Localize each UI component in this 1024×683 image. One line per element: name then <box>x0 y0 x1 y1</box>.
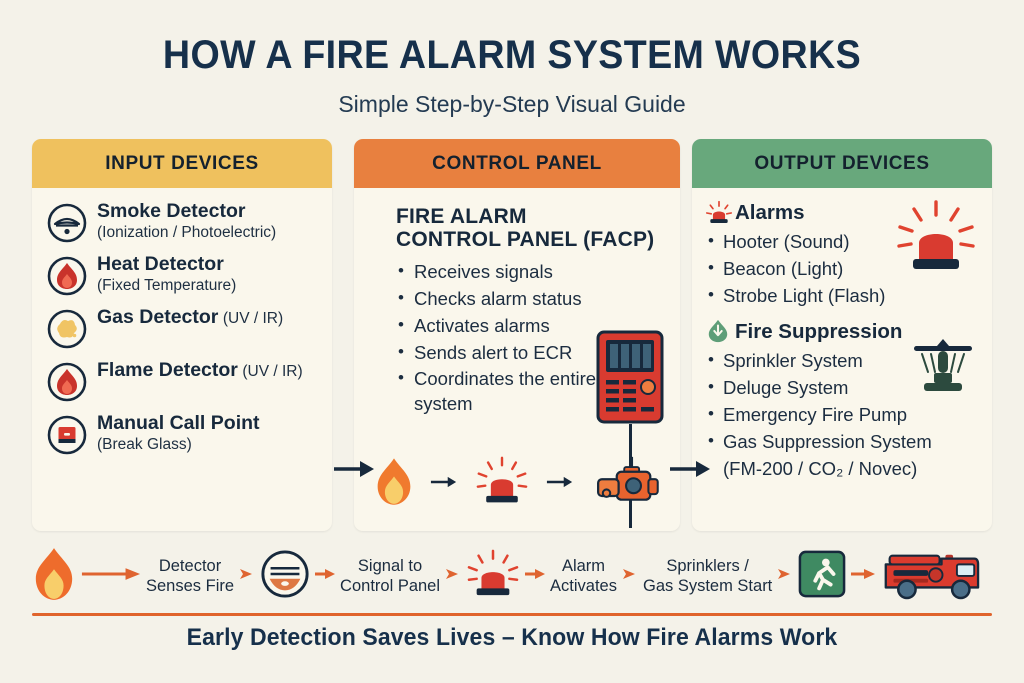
beacon-large-icon <box>894 198 978 278</box>
page-title: HOW A FIRE ALARM SYSTEM WORKS <box>31 32 994 78</box>
device-sub: (Break Glass) <box>97 436 192 453</box>
control-mini-flow <box>374 453 664 515</box>
output-group-label: Fire Suppression <box>735 320 902 344</box>
flow-arrow-short-3-icon <box>444 566 462 587</box>
device-text-gas-detector: Gas Detector (UV / IR) <box>97 306 283 329</box>
flow-label-alarm-activates: Alarm Activates <box>550 556 617 596</box>
panel-input-header: INPUT DEVICES <box>32 139 332 188</box>
fire-truck-icon <box>880 547 980 606</box>
facp-bullet: Receives signals <box>398 258 666 285</box>
output-list-item: Gas Suppression System (FM-200 / CO₂ / N… <box>706 428 978 482</box>
panel-control-panel: CONTROL PANEL FIRE ALARM CONTROL PANEL (… <box>354 139 680 531</box>
flow-label-line1: Alarm <box>562 557 605 575</box>
facp-title-line2: CONTROL PANEL (FACP) <box>396 227 666 252</box>
device-row-manual-call-point: Manual Call Point (Break Glass) <box>46 412 318 456</box>
device-row-flame-detector: Flame Detector (UV / IR) <box>46 359 318 403</box>
facp-unit-icon <box>596 330 664 424</box>
suppression-drop-icon <box>706 319 732 345</box>
three-column-area: INPUT DEVICES Smoke Detector (Ionization <box>0 139 1024 531</box>
flow-arrow-short-1-icon <box>238 566 256 587</box>
output-group-label: Alarms <box>735 201 805 225</box>
mini-flow-arrow-1-icon <box>430 475 458 494</box>
flow-label-signal-to-control-panel: Signal to Control Panel <box>340 556 440 596</box>
device-name: Manual Call Point <box>97 412 260 434</box>
page-subtitle: Simple Step-by-Step Visual Guide <box>0 90 1024 118</box>
gas-detector-icon <box>46 308 88 350</box>
device-text-flame-detector: Flame Detector (UV / IR) <box>97 359 303 382</box>
flame-icon <box>32 546 76 607</box>
flow-label-detector-senses-fire: Detector Senses Fire <box>146 556 234 596</box>
flow-arrow-short-6-icon <box>776 566 794 587</box>
panel-output-header: OUTPUT DEVICES <box>692 139 992 188</box>
device-name: Flame Detector <box>97 359 238 381</box>
flow-step-fire-truck <box>880 547 980 606</box>
device-sub: (Fixed Temperature) <box>97 277 236 294</box>
flow-label-line2: Control Panel <box>340 577 440 595</box>
flow-step-smoke-detector <box>260 549 310 604</box>
panel-input-devices: INPUT DEVICES Smoke Detector (Ionization <box>32 139 332 531</box>
output-list-item: Strobe Light (Flash) <box>706 282 978 309</box>
flow-label-line1: Detector <box>159 557 221 575</box>
beacon-icon <box>474 456 530 513</box>
footer-tagline: Early Detection Saves Lives – Know How F… <box>20 624 1003 652</box>
device-text-heat-detector: Heat Detector (Fixed Temperature) <box>97 253 318 295</box>
panel-output-body: Alarms Hooter (Sound) Beacon (Light) Str… <box>692 188 992 531</box>
device-text-manual-call-point: Manual Call Point (Break Glass) <box>97 412 318 454</box>
flow-step-beacon <box>466 549 520 604</box>
device-name: Gas Detector <box>97 306 218 328</box>
facp-bullet: Coordinates the entire system <box>398 366 614 416</box>
beacon-icon <box>466 549 520 604</box>
device-sub: (UV / IR) <box>223 310 283 327</box>
flow-arrow-short-4-icon <box>524 566 546 587</box>
bottom-flow-strip: Detector Senses Fire <box>32 541 992 611</box>
flow-step-flame <box>32 546 76 607</box>
flow-arrow-short-2-icon <box>314 566 336 587</box>
panel-output-devices: OUTPUT DEVICES <box>692 139 992 531</box>
facp-bullet: Checks alarm status <box>398 285 666 312</box>
device-sub: (Ionization / Photoelectric) <box>97 224 276 241</box>
device-text-smoke-detector: Smoke Detector (Ionization / Photoelectr… <box>97 200 318 242</box>
panel-control-body: FIRE ALARM CONTROL PANEL (FACP) Receives… <box>354 188 680 531</box>
smoke-detector-icon <box>46 202 88 244</box>
panel-control-header: CONTROL PANEL <box>354 139 680 188</box>
output-list-item-line1: Gas Suppression System <box>723 431 932 452</box>
device-row-gas-detector: Gas Detector (UV / IR) <box>46 306 318 350</box>
sprinkler-head-icon <box>906 338 980 404</box>
device-name: Smoke Detector <box>97 200 245 222</box>
device-sub: (UV / IR) <box>242 363 302 380</box>
flow-label-sprinklers-gas-system-start: Sprinklers / Gas System Start <box>643 556 772 596</box>
flow-label-line1: Signal to <box>358 557 422 575</box>
arrow-control-to-output-icon <box>668 457 712 481</box>
fire-pump-icon <box>590 455 664 514</box>
flow-label-line1: Sprinklers / <box>666 557 749 575</box>
beacon-icon <box>706 200 732 226</box>
manual-call-point-icon <box>46 414 88 456</box>
flow-arrow-long-icon <box>80 566 142 587</box>
footer-divider-rule <box>32 613 992 616</box>
device-row-smoke-detector: Smoke Detector (Ionization / Photoelectr… <box>46 200 318 244</box>
mini-flow-arrow-2-icon <box>546 475 574 494</box>
flow-step-exit-sign <box>798 550 846 603</box>
facp-title-line1: FIRE ALARM <box>396 204 666 229</box>
flow-label-line2: Senses Fire <box>146 577 234 595</box>
flame-detector-icon <box>46 361 88 403</box>
device-name: Heat Detector <box>97 253 224 275</box>
arrow-input-to-control-icon <box>332 457 376 481</box>
flow-label-line2: Activates <box>550 577 617 595</box>
output-list-item-line2: (FM-200 / CO₂ / Novec) <box>723 455 978 482</box>
panel-input-body: Smoke Detector (Ionization / Photoelectr… <box>32 188 332 531</box>
infographic-page: HOW A FIRE ALARM SYSTEM WORKS Simple Ste… <box>0 0 1024 683</box>
flow-label-line2: Gas System Start <box>643 577 772 595</box>
exit-sign-icon <box>798 550 846 603</box>
heat-detector-icon <box>46 255 88 297</box>
smoke-detector-icon <box>260 549 310 604</box>
flow-arrow-short-7-icon <box>850 566 876 587</box>
flame-icon <box>374 456 414 513</box>
device-row-heat-detector: Heat Detector (Fixed Temperature) <box>46 253 318 297</box>
output-list-item: Emergency Fire Pump <box>706 401 978 428</box>
flow-arrow-short-5-icon <box>621 566 639 587</box>
